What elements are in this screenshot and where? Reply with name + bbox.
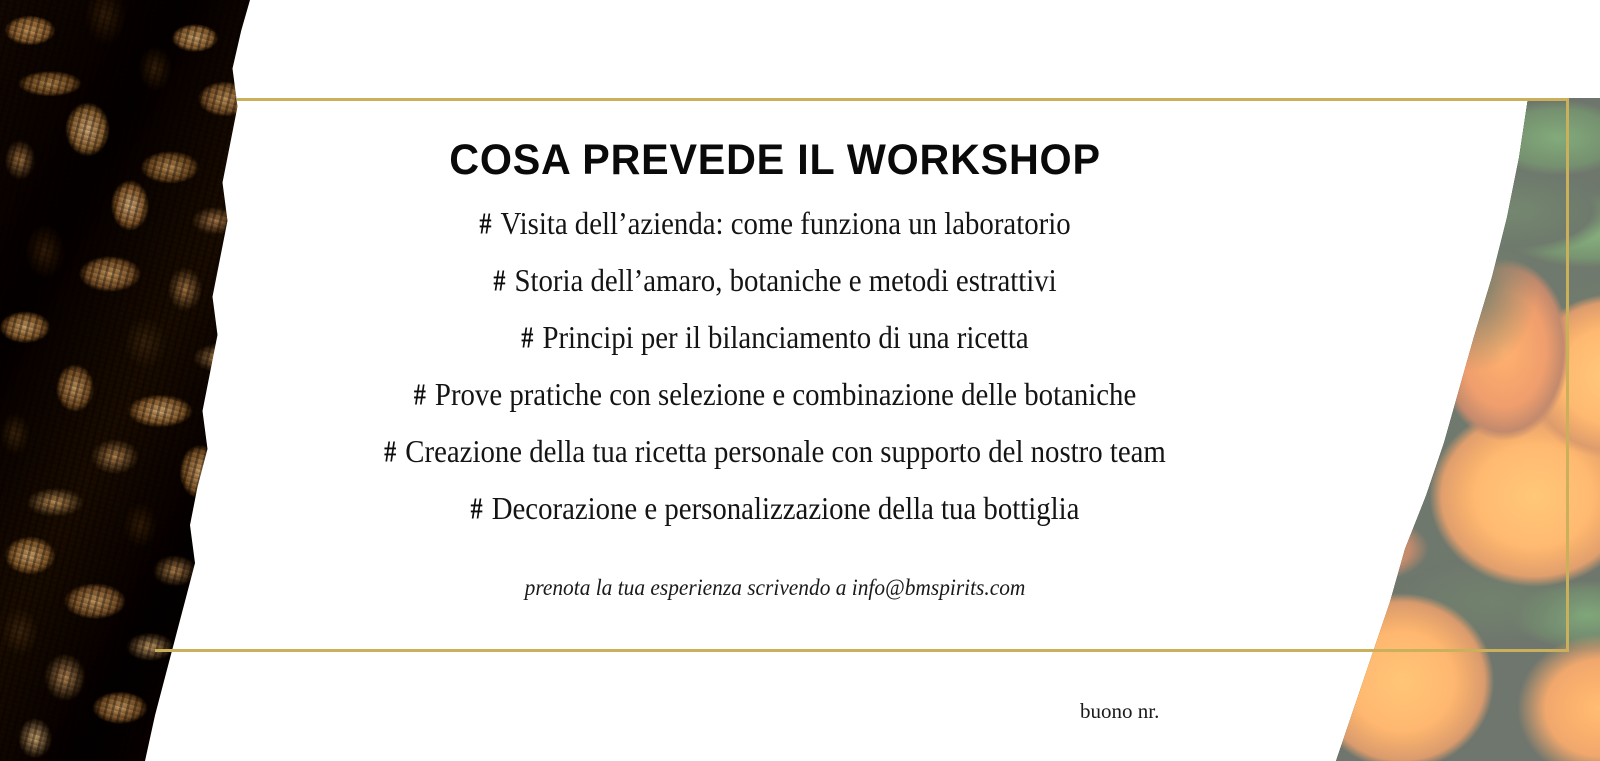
list-item-label: Storia dell’amaro, botaniche e metodi es…: [514, 262, 1056, 298]
list-item: #Decorazione e personalizzazione della t…: [303, 492, 1248, 524]
list-item-label: Visita dell’azienda: come funziona un la…: [501, 205, 1071, 241]
hash-bullet-icon: #: [493, 265, 505, 296]
page-title: COSA PREVEDE IL WORKSHOP: [271, 98, 1279, 185]
list-item-label: Decorazione e personalizzazione della tu…: [492, 490, 1080, 526]
hash-bullet-icon: #: [521, 322, 533, 353]
frame-bottom-rule: [155, 649, 1569, 652]
hash-bullet-icon: #: [414, 379, 426, 410]
list-item: #Creazione della tua ricetta personale c…: [303, 435, 1248, 467]
list-item: #Visita dell’azienda: come funziona un l…: [303, 207, 1248, 239]
voucher-number-label: buono nr.: [1080, 699, 1159, 724]
list-item: #Storia dell’amaro, botaniche e metodi e…: [303, 264, 1248, 296]
bark-grain-layer: [0, 0, 250, 761]
frame-right-rule: [1566, 98, 1569, 651]
oranges-photo: [1300, 98, 1600, 761]
list-item: #Prove pratiche con selezione e combinaz…: [303, 378, 1248, 410]
list-item-label: Principi per il bilanciamento di una ric…: [542, 319, 1028, 355]
contact-cta-text: prenota la tua esperienza scrivendo a in…: [287, 549, 1264, 601]
poster-canvas: COSA PREVEDE IL WORKSHOP #Visita dell’az…: [0, 0, 1600, 761]
list-item: #Principi per il bilanciamento di una ri…: [303, 321, 1248, 353]
workshop-includes-list: #Visita dell’azienda: come funziona un l…: [250, 185, 1300, 524]
hash-bullet-icon: #: [471, 493, 483, 524]
hash-bullet-icon: #: [479, 208, 491, 239]
bark-photo: [0, 0, 250, 761]
list-item-label: Creazione della tua ricetta personale co…: [405, 433, 1166, 469]
content-block: COSA PREVEDE IL WORKSHOP #Visita dell’az…: [250, 98, 1300, 601]
orange-peel-pores-layer: [1300, 98, 1600, 761]
hash-bullet-icon: #: [384, 436, 396, 467]
list-item-label: Prove pratiche con selezione e combinazi…: [435, 376, 1136, 412]
frame-top-rule: [237, 98, 1569, 101]
